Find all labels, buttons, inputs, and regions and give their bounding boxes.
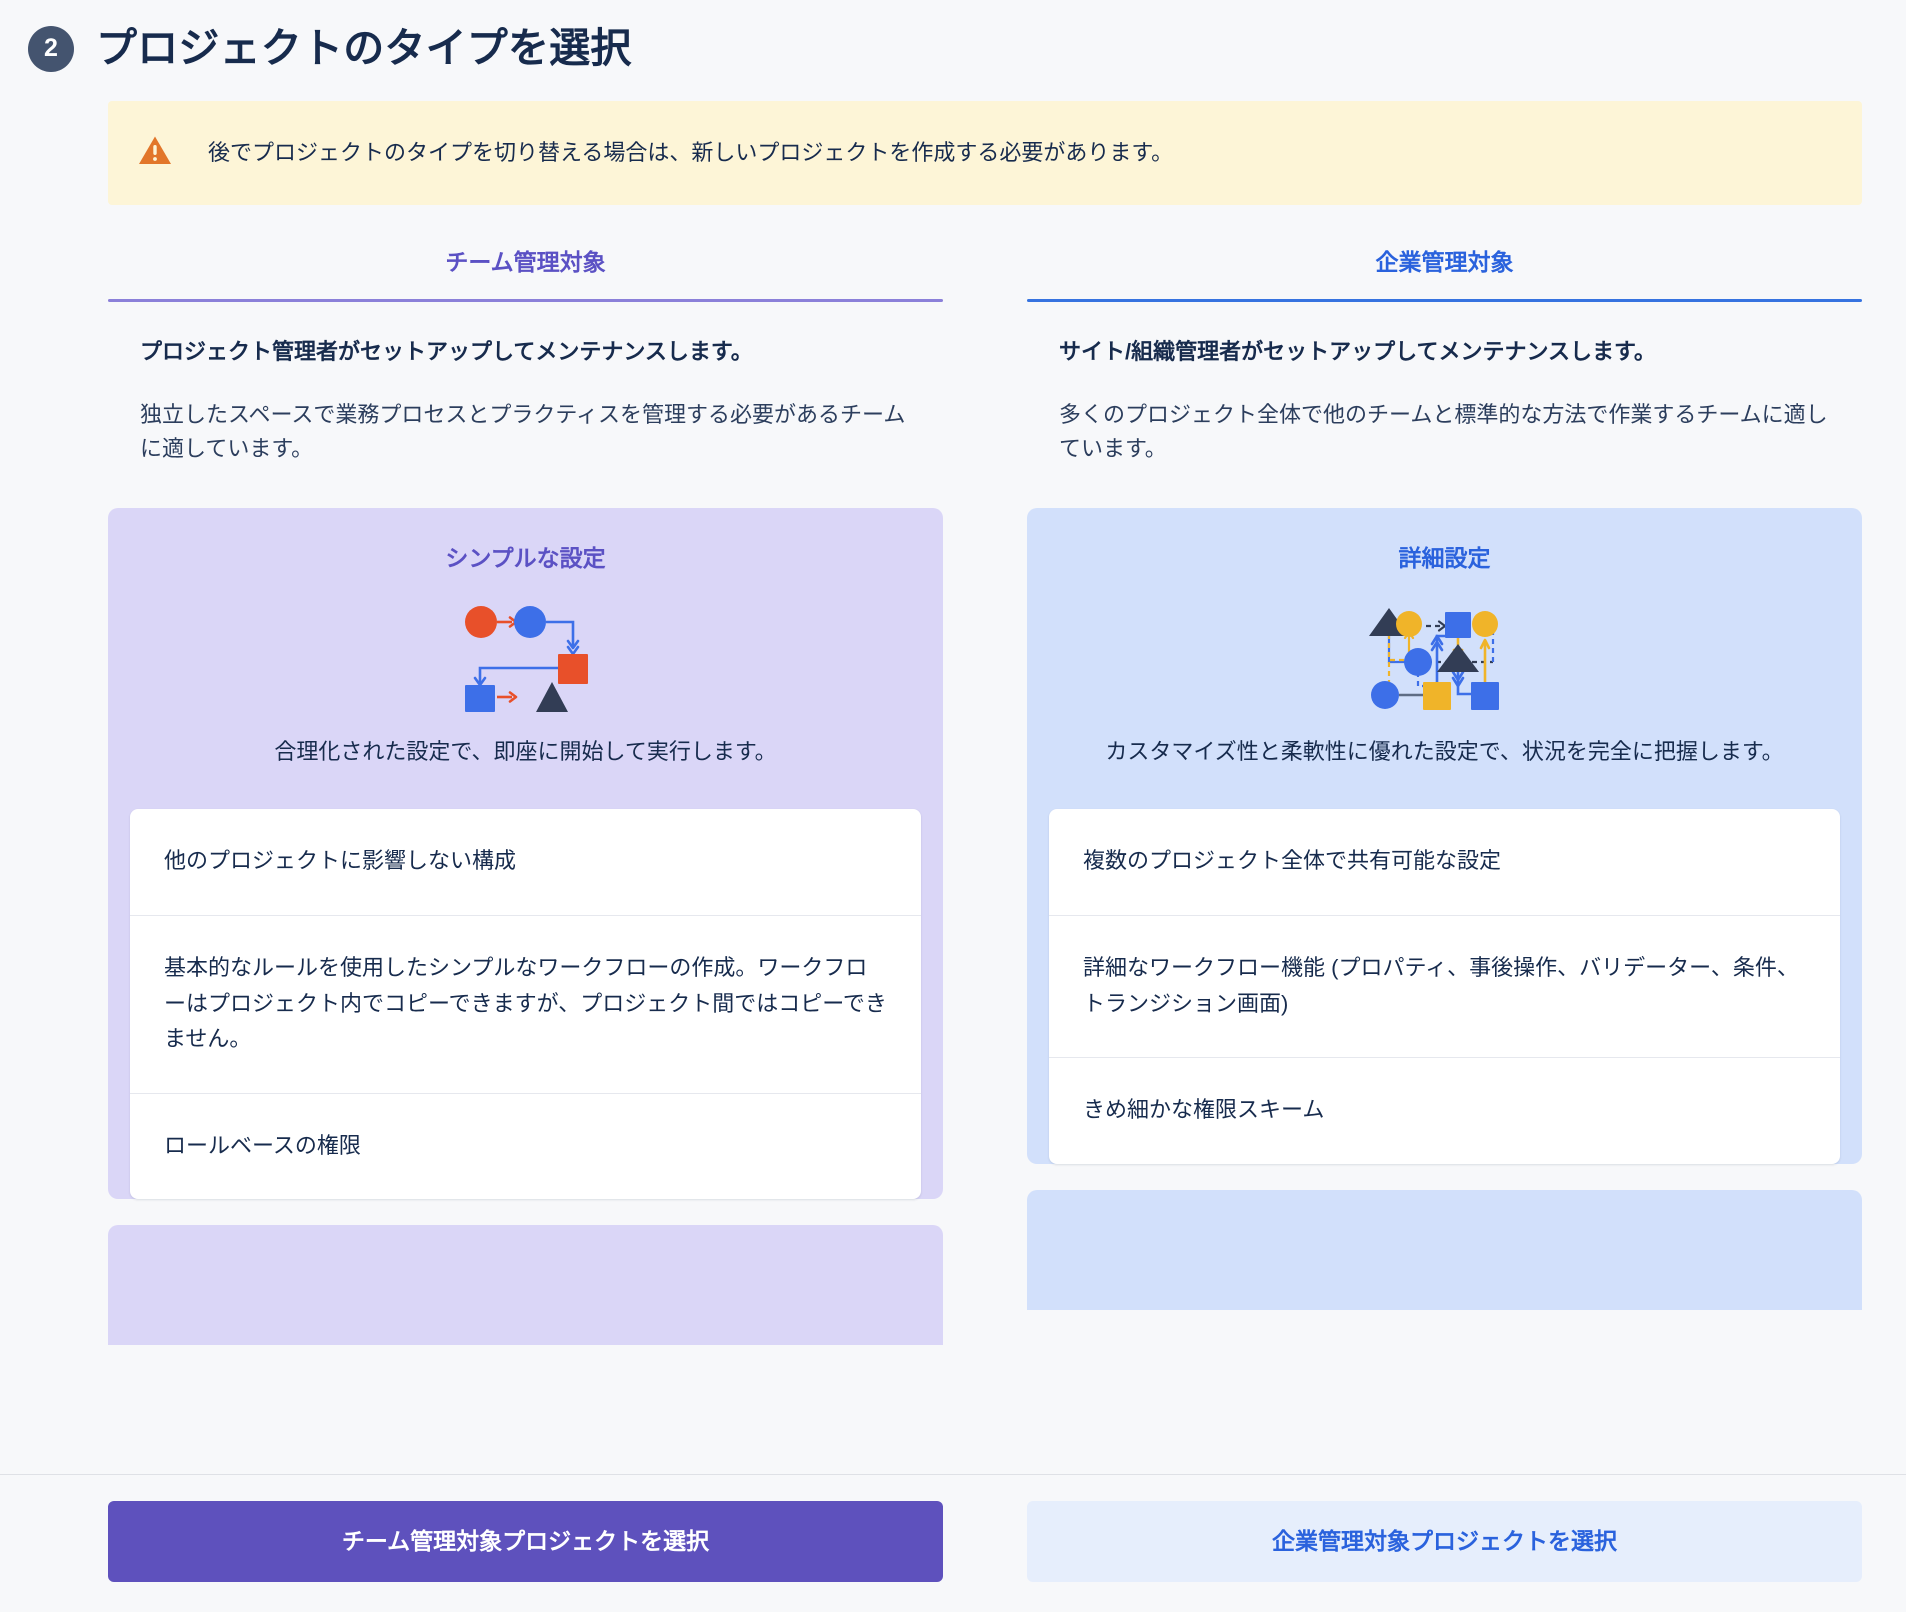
list-item: 基本的なルールを使用したシンプルなワークフローの作成。ワークフローはプロジェクト… [130, 916, 921, 1094]
warning-banner-wrap: 後でプロジェクトのタイプを切り替える場合は、新しいプロジェクトを作成する必要があ… [0, 73, 1906, 205]
footer-actions: チーム管理対象プロジェクトを選択 企業管理対象プロジェクトを選択 [0, 1474, 1906, 1612]
team-simple-config-card: シンプルな設定 [108, 508, 943, 1199]
enterprise-card-title: 詳細設定 [1027, 544, 1862, 574]
enterprise-column-heading: 企業管理対象 [1027, 243, 1862, 299]
team-column-description: 独立したスペースで業務プロセスとプラクティスを管理する必要があるチームに適してい… [108, 368, 943, 466]
enterprise-column-lead: サイト/組織管理者がセットアップしてメンテナンスします。 [1027, 302, 1862, 368]
warning-triangle-icon [138, 135, 172, 171]
list-item: 詳細なワークフロー機能 (プロパティ、事後操作、バリデーター、条件、トランジショ… [1049, 916, 1840, 1058]
team-card-blurb: 合理化された設定で、即座に開始して実行します。 [108, 734, 943, 809]
advanced-workflow-diagram [1027, 574, 1862, 734]
simple-workflow-diagram [108, 574, 943, 734]
enterprise-column-description: 多くのプロジェクト全体で他のチームと標準的な方法で作業するチームに適しています。 [1027, 368, 1862, 466]
team-card-title: シンプルな設定 [108, 544, 943, 574]
team-feature-list: 他のプロジェクトに影響しない構成 基本的なルールを使用したシンプルなワークフロー… [130, 809, 921, 1199]
enterprise-managed-column: 企業管理対象 サイト/組織管理者がセットアップしてメンテナンスします。 多くのプ… [1027, 243, 1862, 1310]
team-column-heading: チーム管理対象 [108, 243, 943, 299]
team-next-card-peek [108, 1225, 943, 1345]
team-managed-column: チーム管理対象 プロジェクト管理者がセットアップしてメンテナンスします。 独立し… [108, 243, 943, 1345]
project-type-columns: チーム管理対象 プロジェクト管理者がセットアップしてメンテナンスします。 独立し… [0, 205, 1906, 1345]
list-item: きめ細かな権限スキーム [1049, 1058, 1840, 1164]
warning-banner: 後でプロジェクトのタイプを切り替える場合は、新しいプロジェクトを作成する必要があ… [108, 101, 1862, 205]
enterprise-feature-list: 複数のプロジェクト全体で共有可能な設定 詳細なワークフロー機能 (プロパティ、事… [1049, 809, 1840, 1164]
page-header: 2 プロジェクトのタイプを選択 [0, 0, 1906, 73]
team-column-lead: プロジェクト管理者がセットアップしてメンテナンスします。 [108, 302, 943, 368]
list-item: 他のプロジェクトに影響しない構成 [130, 809, 921, 916]
page-title: プロジェクトのタイプを選択 [96, 24, 632, 73]
enterprise-advanced-config-card: 詳細設定 [1027, 508, 1862, 1164]
step-number-badge: 2 [28, 26, 74, 72]
enterprise-card-blurb: カスタマイズ性と柔軟性に優れた設定で、状況を完全に把握します。 [1027, 734, 1862, 809]
select-enterprise-managed-button[interactable]: 企業管理対象プロジェクトを選択 [1027, 1501, 1862, 1582]
project-type-selection-page: 2 プロジェクトのタイプを選択 後でプロジェクトのタイプを切り替える場合は、新し… [0, 0, 1906, 1612]
select-team-managed-button[interactable]: チーム管理対象プロジェクトを選択 [108, 1501, 943, 1582]
warning-banner-text: 後でプロジェクトのタイプを切り替える場合は、新しいプロジェクトを作成する必要があ… [208, 137, 1173, 169]
list-item: ロールベースの権限 [130, 1094, 921, 1200]
enterprise-next-card-peek [1027, 1190, 1862, 1310]
list-item: 複数のプロジェクト全体で共有可能な設定 [1049, 809, 1840, 916]
